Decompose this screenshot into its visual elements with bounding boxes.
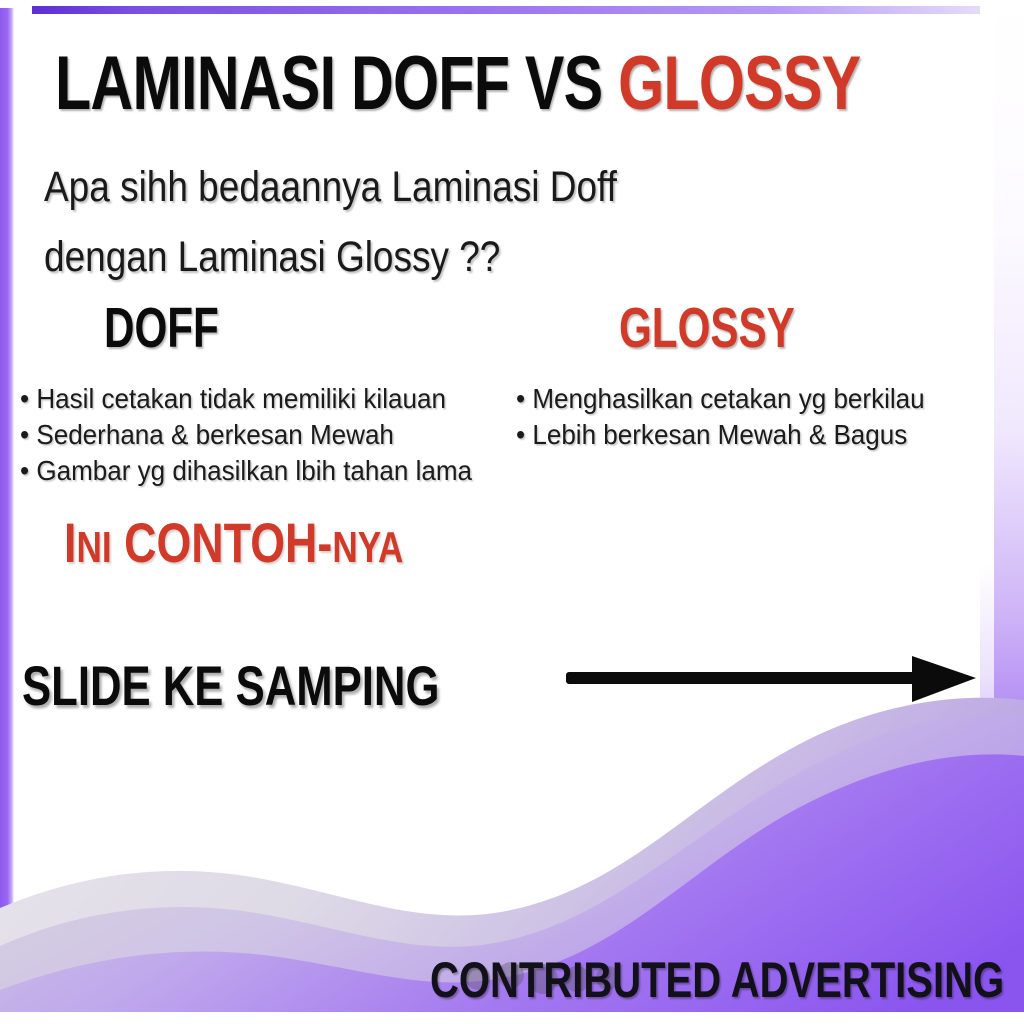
list-item: • Menghasilkan cetakan yg berkilau xyxy=(516,381,1024,417)
headline-black-part: LAMINASI DOFF VS xyxy=(55,41,618,126)
subtitle: Apa sihh bedaannya Laminasi Doff dengan … xyxy=(44,152,818,292)
list-item: • Hasil cetakan tidak memiliki kilauan xyxy=(20,381,541,417)
list-item: • Lebih berkesan Mewah & Bagus xyxy=(516,417,1024,453)
column-heading-doff: DOFF xyxy=(104,298,219,358)
example-label-rest: CONTOH- xyxy=(112,511,333,574)
subtitle-line-1: Apa sihh bedaannya Laminasi Doff xyxy=(44,152,818,222)
bottom-white-strip xyxy=(0,1012,1024,1024)
example-label-small-1: NI xyxy=(76,523,111,572)
page-title: LAMINASI DOFF VS GLOSSY xyxy=(55,44,757,124)
subtitle-line-2: dengan Laminasi Glossy ?? xyxy=(44,222,818,292)
headline-red-part: GLOSSY xyxy=(618,41,860,126)
list-item: • Gambar yg dihasilkan lbih tahan lama xyxy=(20,453,541,489)
column-heading-glossy: GLOSSY xyxy=(619,298,795,358)
bullet-list-doff: • Hasil cetakan tidak memiliki kilauan •… xyxy=(20,381,541,489)
bullet-list-glossy: • Menghasilkan cetakan yg berkilau • Leb… xyxy=(516,381,1024,453)
example-label: INI CONTOH-NYA xyxy=(64,512,403,579)
list-item: • Sederhana & berkesan Mewah xyxy=(20,417,541,453)
example-label-prefix: I xyxy=(64,511,76,574)
footer-branding: CONTRIBUTED ADVERTISING xyxy=(430,952,1004,1008)
example-label-small-2: NYA xyxy=(332,523,403,572)
poster-canvas: LAMINASI DOFF VS GLOSSY Apa sihh bedaann… xyxy=(0,0,1024,1024)
top-accent-bar xyxy=(32,6,1024,14)
